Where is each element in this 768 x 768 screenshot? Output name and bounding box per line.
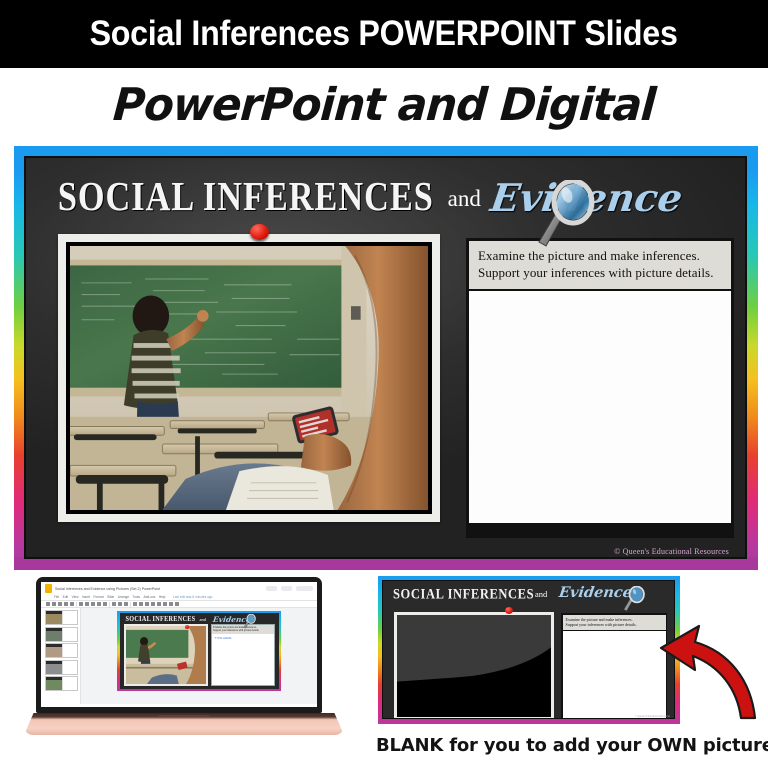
blank-magnifying-glass-icon [621, 586, 645, 614]
blank-title-and: and [535, 589, 547, 599]
app-title-bar: Social Inferences and Evidence using Pic… [41, 582, 317, 595]
present-button[interactable] [296, 586, 313, 592]
mini-answer-area[interactable]: TYPE HERE [212, 634, 274, 685]
line-icon[interactable] [103, 602, 107, 606]
slide-title-main: SOCIAL INFERENCES [58, 173, 434, 220]
italic-icon[interactable] [139, 602, 143, 606]
slide-thumbnail[interactable] [45, 627, 78, 642]
menu-insert[interactable]: Insert [82, 595, 90, 599]
slide-title-and: and [448, 186, 481, 212]
menu-slide[interactable]: Slide [107, 595, 114, 599]
main-slide: SOCIAL INFERENCES and Evidence [24, 156, 747, 559]
select-icon[interactable] [79, 602, 83, 606]
redo-icon[interactable] [52, 602, 56, 606]
mini-slide-inner: SOCIAL INFERENCES and Evidence [120, 613, 279, 689]
slide-thumbnail[interactable] [45, 643, 78, 658]
menu-arrange[interactable]: Arrange [118, 595, 129, 599]
menu-tools[interactable]: Tools [133, 595, 140, 599]
document-title: Social Inferences and Evidence using Pic… [55, 587, 160, 591]
blank-answer-area[interactable] [563, 631, 666, 719]
blank-picture-frame [394, 612, 554, 719]
toolbar [41, 600, 317, 608]
slide-thumbnail[interactable] [45, 676, 78, 691]
undo-icon[interactable] [46, 602, 50, 606]
laptop-mockup: Social Inferences and Evidence using Pic… [24, 577, 344, 735]
slide-thumbnail[interactable] [45, 660, 78, 675]
blank-slide-mockup: SOCIAL INFERENCES and Evidence Examine t… [378, 576, 680, 724]
avatar[interactable] [281, 586, 292, 591]
slide-filmstrip[interactable] [41, 608, 81, 704]
fill-color-icon[interactable] [112, 602, 116, 606]
mini-response-panel: Examine the picture and make inferences.… [211, 624, 275, 686]
magnifying-glass-icon [531, 180, 595, 254]
blank-red-pin-icon [505, 607, 513, 614]
type-here-placeholder: TYPE HERE [212, 634, 274, 640]
page-subheader: PowerPoint and Digital [0, 68, 768, 140]
last-edit-label[interactable]: Last edit was 8 minutes ago [173, 595, 213, 599]
titlebar-actions [266, 586, 313, 592]
mini-slide-body: Examine the picture and make inferences.… [120, 623, 279, 689]
mini-magnifying-glass-icon [242, 614, 256, 630]
line-spacing-icon[interactable] [175, 602, 179, 606]
mini-picture-frame [124, 624, 208, 686]
underline-icon[interactable] [145, 602, 149, 606]
menu-format[interactable]: Format [93, 595, 103, 599]
instructions-box: Examine the picture and make inferences.… [469, 241, 731, 289]
mini-slide-header: SOCIAL INFERENCES and Evidence [120, 613, 279, 623]
slide-thumbnail[interactable] [45, 610, 78, 625]
text-color-icon[interactable] [151, 602, 155, 606]
red-pin-icon [250, 224, 269, 240]
menu-file[interactable]: File [54, 595, 59, 599]
page-subtitle: PowerPoint and Digital [111, 78, 656, 131]
menu-view[interactable]: View [72, 595, 79, 599]
blank-instructions-box: Examine the picture and make inferences.… [563, 615, 666, 630]
image-icon[interactable] [91, 602, 95, 606]
main-slide-rainbow-frame: SOCIAL INFERENCES and Evidence [14, 146, 758, 570]
toolbar-divider-3 [130, 602, 131, 607]
editor-body: SOCIAL INFERENCES and Evidence [41, 608, 317, 704]
mini-red-pin-icon [185, 625, 189, 629]
textbox-icon[interactable] [85, 602, 89, 606]
instruction-line-1: Examine the picture and make inferences. [478, 248, 723, 265]
paint-format-icon[interactable] [64, 602, 68, 606]
zoom-icon[interactable] [70, 602, 74, 606]
shape-icon[interactable] [97, 602, 101, 606]
mini-title-and: and [200, 617, 207, 622]
slide-canvas[interactable]: SOCIAL INFERENCES and Evidence [81, 608, 317, 704]
border-weight-icon[interactable] [124, 602, 128, 606]
toolbar-divider-2 [109, 602, 110, 607]
blank-instruction-line-2: Support your inferences with picture det… [566, 622, 664, 627]
page-title: Social Inferences POWERPOINT Slides [90, 14, 678, 54]
print-icon[interactable] [58, 602, 62, 606]
bold-icon[interactable] [133, 602, 137, 606]
blank-response-panel: Examine the picture and make inferences.… [561, 613, 667, 719]
picture-frame [58, 234, 440, 522]
blank-slide: SOCIAL INFERENCES and Evidence Examine t… [382, 580, 675, 719]
copyright-credit: © Queen's Educational Resources [614, 547, 729, 556]
page-header-banner: Social Inferences POWERPOINT Slides [0, 0, 768, 68]
laptop-lid: Social Inferences and Evidence using Pic… [36, 577, 322, 713]
mini-title-main: SOCIAL INFERENCES [126, 615, 196, 623]
classroom-photo [70, 246, 428, 510]
indent-icon[interactable] [169, 602, 173, 606]
blank-picture-placeholder[interactable] [397, 615, 551, 717]
menu-edit[interactable]: Edit [63, 595, 69, 599]
blank-title-main: SOCIAL INFERENCES [393, 586, 534, 604]
laptop-screen: Social Inferences and Evidence using Pic… [41, 582, 317, 707]
editor-mini-slide[interactable]: SOCIAL INFERENCES and Evidence [117, 611, 281, 691]
picture-mat [66, 242, 432, 514]
laptop-keyboard-base [24, 713, 344, 735]
list-icon[interactable] [163, 602, 167, 606]
border-color-icon[interactable] [118, 602, 122, 606]
answer-text-area[interactable] [469, 291, 731, 523]
mini-classroom-photo [126, 626, 206, 684]
menu-help[interactable]: Help [159, 595, 166, 599]
align-icon[interactable] [157, 602, 161, 606]
slides-doc-icon [45, 584, 52, 593]
menu-addons[interactable]: Add-ons [143, 595, 155, 599]
share-chip[interactable] [266, 586, 277, 591]
instruction-line-2: Support your inferences with picture det… [478, 265, 723, 282]
red-arrow-icon [655, 618, 759, 722]
toolbar-divider [76, 602, 77, 607]
blank-caption: BLANK for you to add your OWN picture! [376, 735, 768, 756]
response-panel: Examine the picture and make inferences.… [466, 238, 734, 538]
